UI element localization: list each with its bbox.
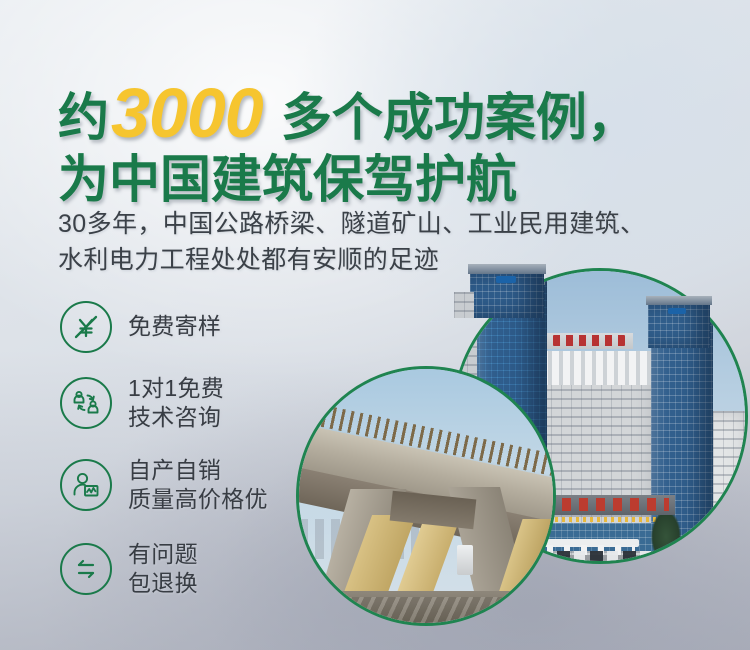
feature-item-free-sample[interactable]: 免费寄样: [60, 296, 330, 358]
headline-number: 3000: [109, 74, 267, 152]
feature-item-return-exchange[interactable]: 有问题 包退换: [60, 538, 330, 600]
bridge-ground-texture: [299, 597, 556, 626]
feature-item-quality[interactable]: 自产自销 质量高价格优: [60, 454, 330, 516]
feature-text-free-sample: 免费寄样: [128, 312, 221, 341]
feature-item-consultation[interactable]: 1对1免费 技术咨询: [60, 372, 330, 434]
feature-list: 免费寄样 1对1免费 技术咨询: [60, 296, 330, 614]
subtitle-line-1: 30多年，中国公路桥梁、隧道矿山、工业民用建筑、: [58, 206, 718, 242]
feature-line-2: 技术咨询: [128, 403, 224, 432]
feature-line-2: 质量高价格优: [128, 485, 268, 514]
feature-line-1: 1对1免费: [128, 374, 224, 403]
building-podium-sign-text: [545, 498, 669, 511]
promo-banner: 约3000 多个成功案例， 为中国建筑保驾护航 30多年，中国公路桥梁、隧道矿山…: [0, 0, 750, 650]
feature-line-1: 有问题: [128, 540, 198, 569]
subtitle: 30多年，中国公路桥梁、隧道矿山、工业民用建筑、 水利电力工程处处都有安顺的足迹: [58, 206, 718, 279]
building-upper-sign-text: [553, 335, 625, 346]
headline: 约3000 多个成功案例， 为中国建筑保驾护航: [58, 78, 718, 205]
return-exchange-icon: [60, 543, 112, 595]
feature-line-1: 免费寄样: [128, 312, 221, 341]
feature-text-consultation: 1对1免费 技术咨询: [128, 374, 224, 433]
feature-text-return-exchange: 有问题 包退换: [128, 540, 198, 599]
feature-line-1: 自产自销: [128, 456, 268, 485]
building-left-tower-crown: [475, 273, 545, 285]
headline-suffix: 多个成功案例，: [267, 89, 638, 146]
self-produce-quality-icon: [60, 459, 112, 511]
feature-line-2: 包退换: [128, 569, 198, 598]
headline-line-2: 为中国建筑保驾护航: [58, 154, 718, 205]
headline-line-1: 约3000 多个成功案例，: [58, 78, 718, 148]
no-fee-yuan-icon: [60, 301, 112, 353]
bridge-photo: [296, 366, 556, 626]
bridge-vehicle: [457, 545, 473, 575]
headline-prefix: 约: [58, 89, 109, 146]
building-right-tower-crown: [653, 305, 711, 315]
feature-text-quality: 自产自销 质量高价格优: [128, 456, 268, 515]
one-on-one-consult-icon: [60, 377, 112, 429]
